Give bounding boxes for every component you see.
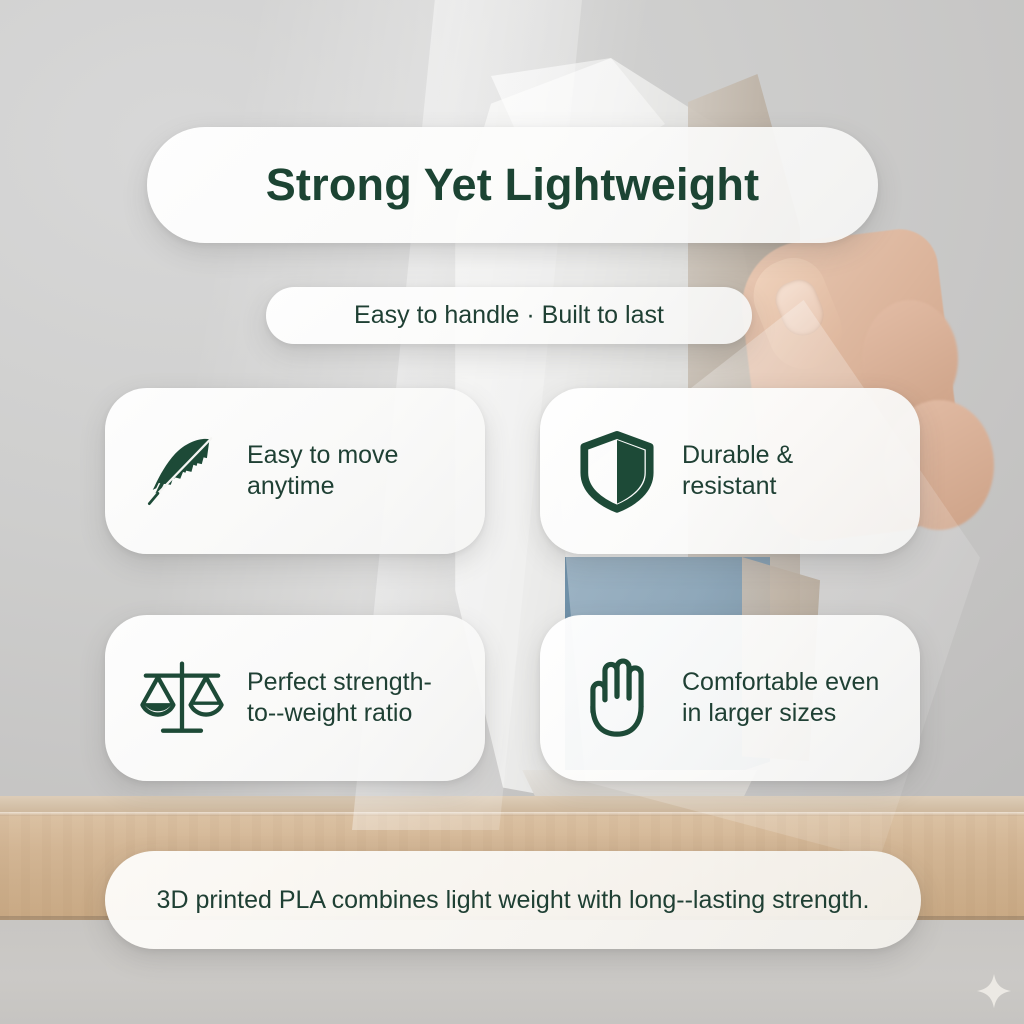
feature-label: Perfect strength-to--weight ratio <box>247 667 459 730</box>
title-pill: Strong Yet Lightweight <box>147 127 878 243</box>
infographic-overlay: Strong Yet Lightweight Easy to handle · … <box>0 0 1024 1024</box>
scales-icon <box>139 655 225 741</box>
caption-pill: 3D printed PLA combines light weight wit… <box>105 851 921 949</box>
feature-card-easy-to-move: Easy to move anytime <box>105 388 485 554</box>
feature-label: Easy to move anytime <box>247 440 459 503</box>
page-subtitle: Easy to handle · Built to last <box>354 301 664 330</box>
feature-label: Comfortable even in larger sizes <box>682 667 894 730</box>
caption-text: 3D printed PLA combines light weight wit… <box>157 884 870 917</box>
open-hand-icon <box>574 655 660 741</box>
feature-card-comfortable: Comfortable even in larger sizes <box>540 615 920 781</box>
shield-icon <box>574 428 660 514</box>
feature-card-durable: Durable & resistant <box>540 388 920 554</box>
feature-label: Durable & resistant <box>682 440 894 503</box>
feature-card-strength-to-weight: Perfect strength-to--weight ratio <box>105 615 485 781</box>
sparkle-icon <box>975 972 1013 1010</box>
subtitle-pill: Easy to handle · Built to last <box>266 287 752 344</box>
page-title: Strong Yet Lightweight <box>266 159 760 211</box>
feather-icon <box>139 428 225 514</box>
